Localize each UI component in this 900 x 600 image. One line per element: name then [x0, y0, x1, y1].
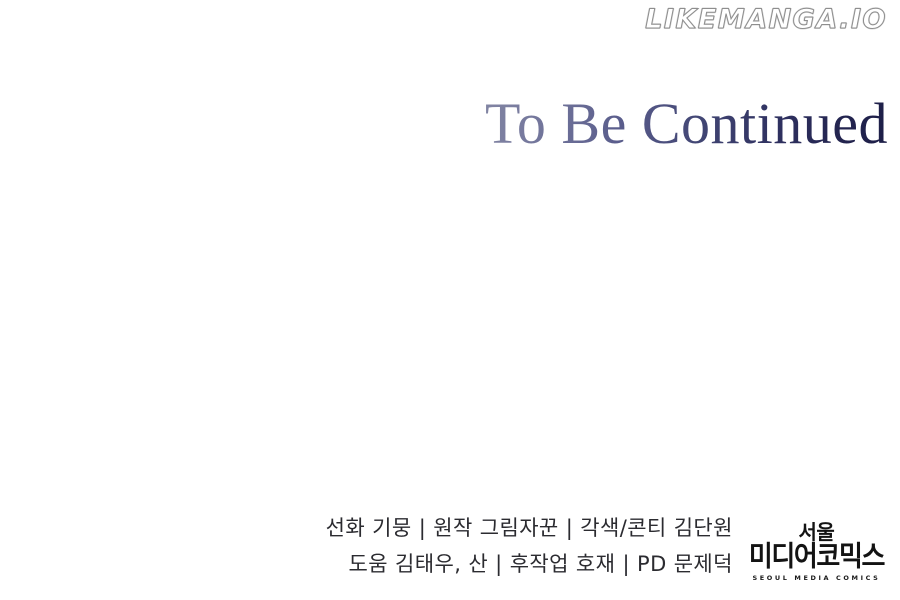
publisher-logo-romanized: SEOUL MEDIA COMICS: [749, 575, 884, 582]
credits-line-2: 도움 김태우, 산 | 후작업 호재 | PD 문제덕: [326, 547, 733, 582]
to-be-continued-title: To Be Continued: [485, 94, 888, 155]
publisher-logo: 서울 미디어코믹스 SEOUL MEDIA COMICS: [749, 522, 884, 585]
title-container: To Be Continued: [0, 94, 888, 155]
credits-block: 선화 기뭉 | 원작 그림자꾼 | 각색/콘티 김단원 도움 김태우, 산 | …: [326, 511, 733, 584]
comic-end-page: LIKEMANGA.IO To Be Continued 선화 기뭉 | 원작 …: [0, 0, 900, 600]
footer: 선화 기뭉 | 원작 그림자꾼 | 각색/콘티 김단원 도움 김태우, 산 | …: [0, 511, 884, 584]
publisher-logo-seoul: 서울: [749, 522, 884, 542]
credits-line-1: 선화 기뭉 | 원작 그림자꾼 | 각색/콘티 김단원: [326, 511, 733, 546]
likemanga-watermark: LIKEMANGA.IO: [645, 6, 887, 33]
publisher-logo-media-comics: 미디어코믹스: [749, 542, 884, 570]
